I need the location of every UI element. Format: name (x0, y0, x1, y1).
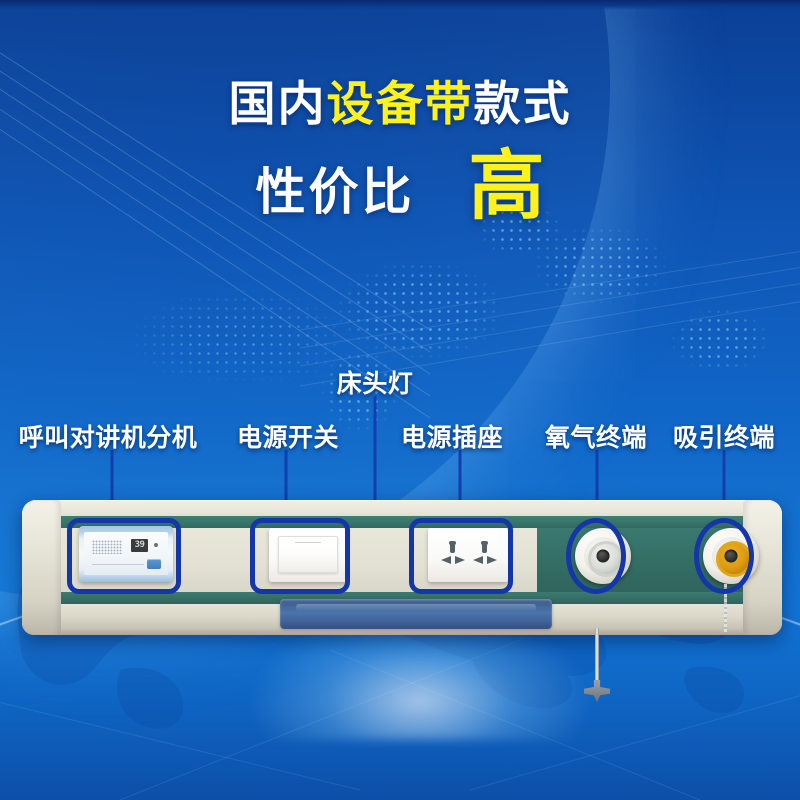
callout-label-bed-lamp: 床头灯 (337, 364, 414, 400)
bed-head-unit-panel: 39 (22, 500, 782, 635)
power-socket-device[interactable] (428, 528, 508, 582)
socket-outlet-2[interactable] (472, 542, 498, 568)
callout-label-oxygen-terminal: 氧气终端 (545, 418, 647, 454)
socket-pin-vertical (482, 542, 487, 553)
rocker-switch-icon[interactable] (278, 536, 338, 573)
socket-pin-left (473, 556, 483, 564)
socket-pin-right (487, 556, 497, 564)
callout-group: 呼叫对讲机分机 电源开关 床头灯 电源插座 氧气终端 吸引终端 (0, 0, 800, 800)
bed-lamp-diffuser[interactable] (280, 599, 552, 629)
socket-pin-left (441, 556, 451, 564)
oxygen-terminal-port[interactable] (597, 550, 610, 563)
socket-outlet-1[interactable] (440, 542, 466, 568)
promo-banner: 国内设备带款式 性价比 高 呼叫对讲机分机 电源开关 床头灯 电源插座 氧气终端… (0, 0, 800, 800)
socket-pin-right (455, 556, 465, 564)
callout-label-power-switch: 电源开关 (237, 418, 339, 454)
callout-label-suction-terminal: 吸引终端 (673, 418, 775, 454)
suction-terminal-port[interactable] (725, 550, 738, 563)
intercom-faceplate: 39 (84, 532, 168, 575)
callout-label-power-socket: 电源插座 (401, 418, 503, 454)
indicator-dot-icon (154, 543, 158, 547)
power-switch-device[interactable] (269, 528, 347, 582)
suction-terminal-device[interactable] (703, 528, 759, 584)
intercom-divider (92, 564, 144, 565)
socket-pin-vertical (450, 542, 455, 553)
nurse-call-intercom-device[interactable]: 39 (79, 526, 173, 582)
speaker-grille-icon (92, 540, 122, 554)
callout-label-nurse-call-intercom: 呼叫对讲机分机 (19, 418, 198, 454)
panel-end-cap-left (22, 500, 61, 635)
suction-terminal-cord (724, 584, 727, 632)
oxygen-terminal-device[interactable] (575, 528, 631, 584)
intercom-lcd-display: 39 (131, 539, 148, 552)
intercom-call-button[interactable] (147, 559, 161, 569)
panel-body: 39 (22, 500, 782, 635)
